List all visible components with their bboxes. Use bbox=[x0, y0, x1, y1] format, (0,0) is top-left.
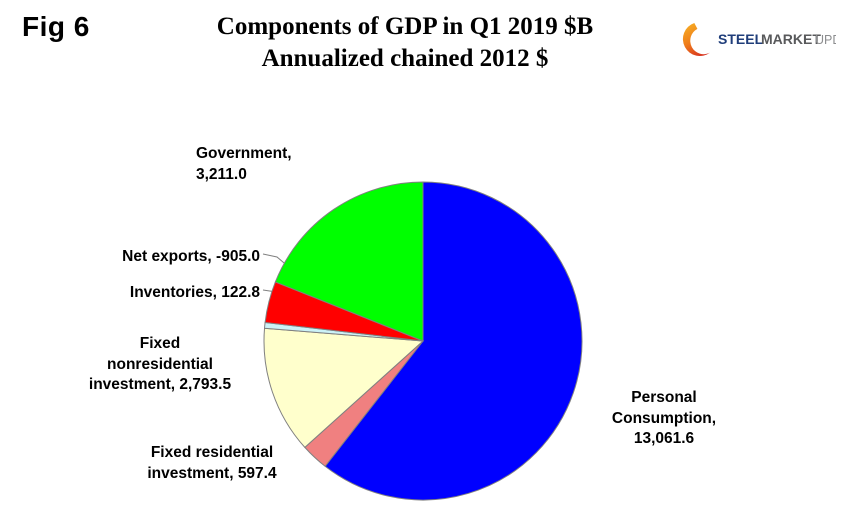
slice-label-government: Government, 3,211.0 bbox=[196, 144, 392, 185]
slice-label-personal-consumption: Personal Consumption, 13,061.6 bbox=[574, 388, 754, 450]
slice-label-fixed-nonresidential-investment: Fixed nonresidential investment, 2,793.5 bbox=[46, 334, 274, 396]
slice-label-net-exports: Net exports, -905.0 bbox=[60, 247, 260, 268]
slice-label-fixed-residential-investment: Fixed residential investment, 597.4 bbox=[110, 443, 314, 484]
slice-label-inventories: Inventories, 122.8 bbox=[60, 283, 260, 304]
